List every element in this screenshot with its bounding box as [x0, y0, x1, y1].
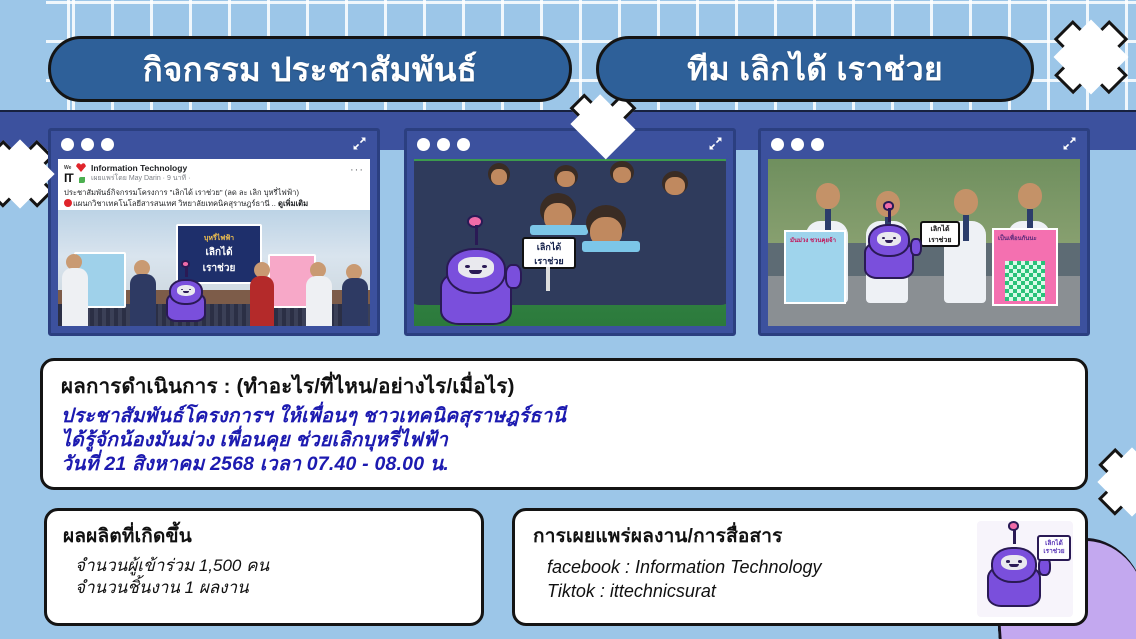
x-decoration-right [1096, 446, 1136, 518]
student-tie [963, 215, 969, 241]
mascot-eye [189, 289, 192, 291]
students-assembly-card[interactable]: เลิกได้ เราช่วย [404, 128, 736, 336]
output-panel: ผลผลิตที่เกิดขึ้น จำนวนผู้เข้าร่วม 1,500… [44, 508, 484, 626]
expand-arrow-icon[interactable] [1061, 135, 1078, 152]
card-content: เลิกได้ เราช่วย [414, 159, 726, 326]
mascot-head [169, 279, 203, 305]
person-body [250, 276, 274, 326]
it-logo-icon: We IT [64, 163, 86, 183]
window-dots [417, 138, 470, 151]
campaign-sign: เลิกได้ เราช่วย [522, 237, 576, 269]
student-face [491, 169, 507, 185]
card-title-bar [51, 131, 377, 157]
mascot-eye [465, 265, 470, 268]
result-line: ประชาสัมพันธ์โครงการฯ ให้เพื่อนๆ ชาวเทคน… [61, 404, 1085, 428]
student-head [954, 189, 978, 215]
x-decoration-top-right [1052, 18, 1130, 96]
window-dot [81, 138, 94, 151]
banner-mid-text: เลิกได้ [205, 245, 232, 260]
mascot-head [991, 547, 1036, 583]
student-collar [582, 241, 640, 252]
post-body-line-2: แผนกวิชาเทคโนโลยีสารสนเทศ วิทยาลัยเทคนิค… [64, 198, 364, 209]
post-header: We IT Information Technology เผยแพร่โดย … [58, 159, 370, 186]
mascot-head [868, 224, 910, 256]
post-photo: บุหรี่ไฟฟ้า เลิกได้ เราช่วย [58, 210, 370, 326]
window-dot [61, 138, 74, 151]
mascot-antenna [888, 208, 891, 222]
assembly-photo: เลิกได้ เราช่วย [414, 159, 726, 326]
stage-banner: บุหรี่ไฟฟ้า เลิกได้ เราช่วย [176, 224, 262, 284]
header-pill-activity[interactable]: กิจกรรม ประชาสัมพันธ์ [48, 36, 572, 102]
mascot-robot [166, 276, 206, 322]
mascot-sign-line-2: เราช่วย [1039, 548, 1069, 556]
mascot-illustration: เลิกได้ เราช่วย [977, 521, 1073, 617]
post-body-line-1: ประชาสัมพันธ์กิจกรรมโครงการ "เลิกได้ เรา… [64, 187, 364, 198]
sign-line-1: เลิกได้ [922, 224, 958, 235]
mascot-antenna [475, 225, 478, 245]
window-dot [457, 138, 470, 151]
window-dot [437, 138, 450, 151]
mascot-smile [885, 240, 894, 243]
banner-bottom-text: เราช่วย [203, 261, 236, 276]
mascot-smile [183, 291, 190, 293]
person-body [62, 268, 88, 326]
result-panel: ผลการดำเนินการ : (ทำอะไร/ที่ไหน/อย่างไร/… [40, 358, 1088, 490]
window-dot [811, 138, 824, 151]
student-face [665, 177, 685, 195]
leaf-icon [79, 177, 85, 183]
mascot-antenna [1013, 529, 1016, 544]
sign-handle [546, 267, 550, 291]
page-name[interactable]: Information Technology [91, 163, 364, 174]
output-line: จำนวนผู้เข้าร่วม 1,500 คน [47, 551, 481, 577]
pin-icon [64, 199, 72, 207]
window-dot [417, 138, 430, 151]
result-panel-title: ผลการดำเนินการ : (ทำอะไร/ที่ไหน/อย่างไร/… [43, 361, 1085, 403]
student-collar [530, 225, 588, 235]
sign-line-2: เราช่วย [922, 235, 958, 246]
card-title-bar [761, 131, 1087, 157]
card-title-bar [407, 131, 733, 157]
mascot-eye [482, 265, 487, 268]
poster-blue: มันม่วง ชวนคุยจ้า [784, 230, 846, 304]
poster-pink: เป็นเพื่อนกันนะ [992, 228, 1058, 306]
result-line: วันที่ 21 สิงหาคม 2568 เวลา 07.40 - 08.0… [61, 452, 1085, 476]
students-posters-card[interactable]: มันม่วง ชวนคุยจ้า เป็นเพื่อนกันนะ เลิกได… [758, 128, 1090, 336]
campaign-sign: เลิกได้ เราช่วย [920, 221, 960, 247]
mascot-robot [440, 243, 512, 325]
card-content: We IT Information Technology เผยแพร่โดย … [58, 159, 370, 326]
mascot-face [877, 232, 901, 246]
mascot-eye [1018, 560, 1022, 563]
mascot-arm [505, 264, 522, 289]
facebook-post-card[interactable]: We IT Information Technology เผยแพร่โดย … [48, 128, 380, 336]
header-pill-team[interactable]: ทีม เลิกได้ เราช่วย [596, 36, 1034, 102]
output-panel-title: ผลผลิตที่เกิดขึ้น [47, 511, 481, 551]
banner-top-text: บุหรี่ไฟฟ้า [204, 233, 234, 244]
mascot-arm [910, 238, 922, 255]
mascot-face [458, 257, 494, 278]
qr-code [1005, 261, 1045, 301]
mascot-robot [987, 543, 1041, 607]
window-dot [101, 138, 114, 151]
mascot-eye [882, 237, 885, 239]
logo-it-text: IT [64, 173, 73, 183]
sign-line-1: เลิกได้ [524, 240, 574, 254]
person-body [342, 278, 368, 326]
more-options-icon[interactable]: ··· [350, 164, 364, 176]
student-head [1018, 183, 1042, 209]
expand-arrow-icon[interactable] [707, 135, 724, 152]
mascot-eye [1006, 560, 1010, 563]
mascot-head [446, 248, 506, 294]
person-body [130, 274, 156, 326]
post-body: ประชาสัมพันธ์กิจกรรมโครงการ "เลิกได้ เรา… [58, 186, 370, 212]
output-line: จำนวนชิ้นงาน 1 ผลงาน [47, 577, 481, 599]
sign-line-2: เราช่วย [524, 254, 574, 268]
window-dots [61, 138, 114, 151]
communication-panel: การเผยแพร่ผลงาน/การสื่อสาร facebook : In… [512, 508, 1088, 626]
mascot-eye [893, 237, 896, 239]
heart-icon [76, 163, 86, 172]
see-more-link[interactable]: ดูเพิ่มเติม [278, 199, 308, 208]
result-panel-lines: ประชาสัมพันธ์โครงการฯ ให้เพื่อนๆ ชาวเทคน… [43, 403, 1085, 476]
window-dot [791, 138, 804, 151]
student-head [816, 183, 840, 209]
card-content: มันม่วง ชวนคุยจ้า เป็นเพื่อนกันนะ เลิกได… [768, 159, 1080, 326]
mascot-face [177, 285, 196, 296]
post-meta: เผยแพร่โดย May Darin · 9 นาที · [91, 174, 364, 184]
result-line: ได้รู้จักน้องมันม่วง เพื่อนคุย ช่วยเลิกบ… [61, 428, 1085, 452]
background-left-fill [0, 0, 46, 126]
mascot-smile [469, 270, 482, 275]
poster-pink-title: เป็นเพื่อนกันนะ [994, 230, 1056, 243]
expand-arrow-icon[interactable] [351, 135, 368, 152]
poster-blue-title: มันม่วง ชวนคุยจ้า [786, 232, 844, 245]
posters-photo: มันม่วง ชวนคุยจ้า เป็นเพื่อนกันนะ เลิกได… [768, 159, 1080, 326]
mascot-robot [864, 221, 914, 279]
mascot-antenna [185, 266, 188, 277]
window-dots [771, 138, 824, 151]
mascot-smile [1009, 564, 1019, 567]
mascot-sign: เลิกได้ เราช่วย [1037, 535, 1071, 561]
student-face [613, 167, 631, 183]
student-face [557, 171, 575, 187]
person-body [306, 276, 332, 326]
window-dot [771, 138, 784, 151]
mascot-sign-line-1: เลิกได้ [1039, 540, 1069, 548]
output-panel-lines: จำนวนผู้เข้าร่วม 1,500 คน จำนวนชิ้นงาน 1… [47, 551, 481, 599]
mascot-face [1001, 555, 1027, 571]
